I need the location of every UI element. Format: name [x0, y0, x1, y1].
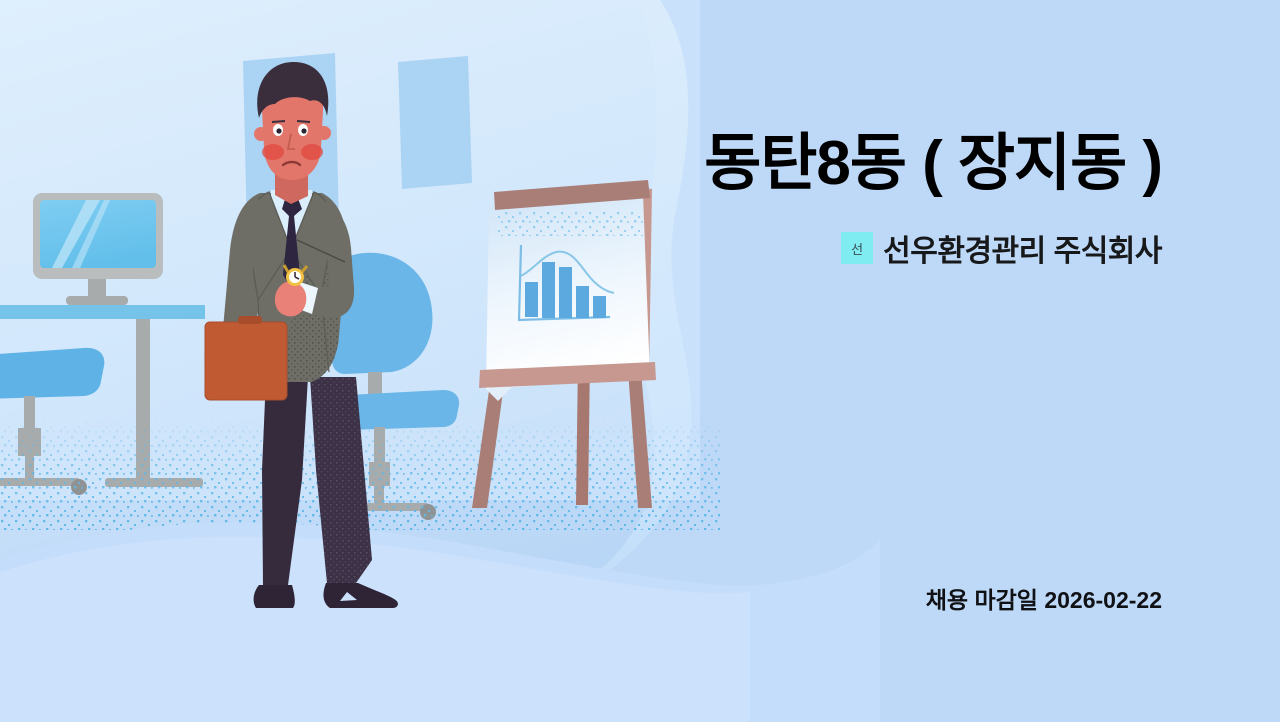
application-deadline: 채용 마감일 2026-02-22 [926, 581, 1162, 615]
company-badge-icon: 선 [841, 232, 873, 264]
company-row: 선 선우환경관리 주식회사 [841, 226, 1162, 270]
company-name: 선우환경관리 주식회사 [883, 226, 1162, 270]
poster-text-layer: 동탄8동 ( 장지동 ) 선 선우환경관리 주식회사 채용 마감일 2026-0… [0, 0, 1280, 722]
job-poster: 동탄8동 ( 장지동 ) 선 선우환경관리 주식회사 채용 마감일 2026-0… [0, 0, 1280, 722]
page-title: 동탄8동 ( 장지동 ) [704, 131, 1162, 196]
